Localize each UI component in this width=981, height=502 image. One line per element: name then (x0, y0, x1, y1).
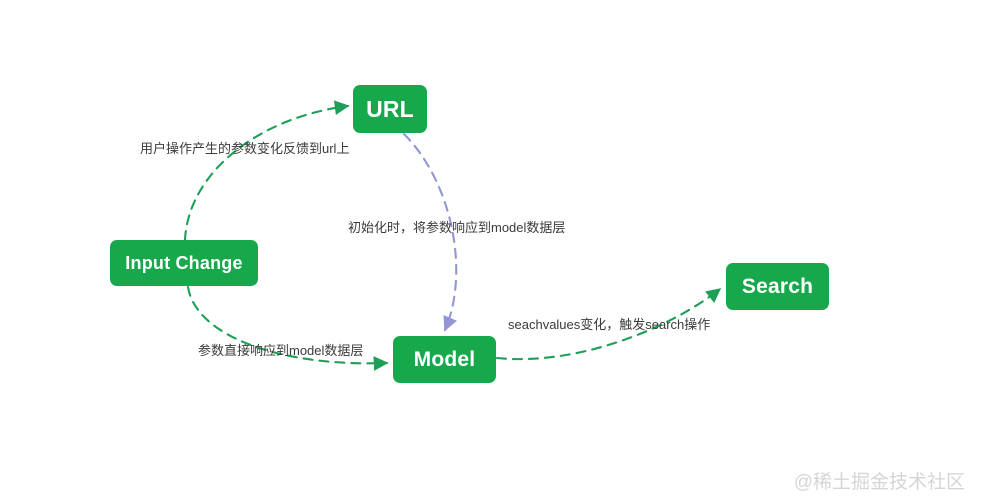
node-url-label: URL (366, 98, 414, 121)
node-input-change-label: Input Change (125, 254, 242, 272)
edge-label-url-to-model: 初始化时，将参数响应到model数据层 (348, 220, 565, 236)
edge-label-input-change-to-model: 参数直接响应到model数据层 (198, 343, 363, 359)
watermark: @稀土掘金技术社区 (794, 467, 965, 494)
edge-label-model-to-search: seachvalues变化，触发search操作 (508, 317, 710, 333)
node-url[interactable]: URL (353, 85, 427, 133)
node-model[interactable]: Model (393, 336, 496, 383)
node-search[interactable]: Search (726, 263, 829, 310)
edge-label-input-change-to-url: 用户操作产生的参数变化反馈到url上 (140, 141, 349, 157)
edge-input-change-to-url (185, 106, 348, 240)
node-input-change[interactable]: Input Change (110, 240, 258, 286)
diagram-canvas: URL Input Change Model Search 用户操作产生的参数变… (0, 0, 981, 502)
node-model-label: Model (414, 349, 476, 370)
node-search-label: Search (742, 276, 813, 297)
